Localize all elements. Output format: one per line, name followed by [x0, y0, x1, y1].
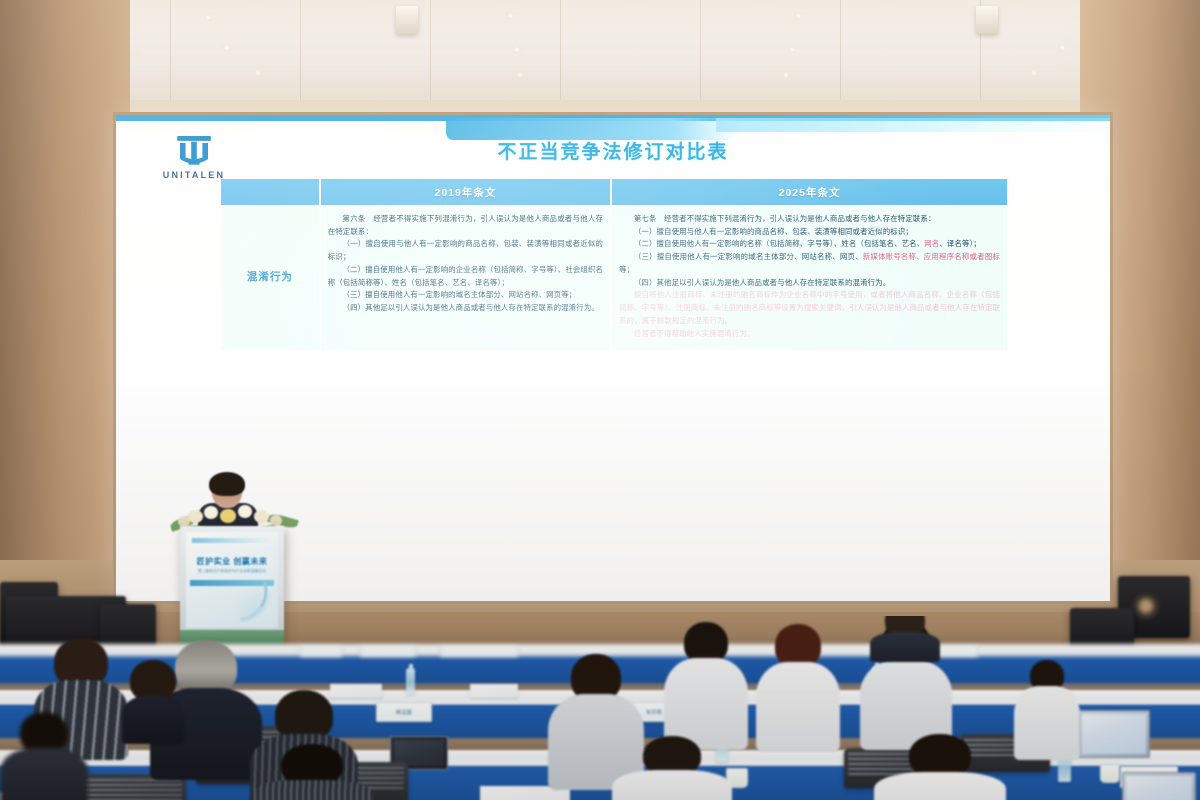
table-header-2025: 2025年条文	[612, 179, 1007, 205]
audience-person	[250, 744, 374, 800]
clause-paragraph: （二）擅自使用他人有一定影响的企业名称（包括简称、字号等）、社会组织名称（包括简…	[328, 264, 603, 289]
conference-hall-photo: UNITALEN 不正当竞争法修订对比表 2019年条文 2025年条文 混淆行…	[0, 0, 1200, 800]
clause-paragraph: （四）其他足以引人误认为是他人商品或者与他人存在特定联系的混淆行为。	[328, 302, 603, 315]
laptop-computer[interactable]	[1078, 710, 1150, 758]
ceiling	[0, 0, 1200, 112]
table-header-row: 2019年条文 2025年条文	[221, 179, 1007, 205]
clause-paragraph: （二）擅自使用他人有一定影响的名称（包括简称、字号等）、姓名（包括笔名、艺名、网…	[619, 238, 1000, 251]
ceiling-spotlight-housing	[976, 6, 998, 34]
ceiling-light-icon	[782, 72, 790, 78]
audience-person	[0, 712, 88, 800]
clause-paragraph: 经营者不得帮助他人实施混淆行为。	[619, 328, 1000, 341]
ceiling-light-icon	[222, 44, 232, 51]
ceiling-light-icon	[788, 46, 797, 53]
audience-person	[664, 622, 748, 746]
audience-person	[1014, 660, 1080, 756]
table-header-blank	[221, 179, 319, 205]
podium-banner-main-text: 匠护实业 创赢未来	[186, 556, 278, 567]
clause-paragraph: （一）擅自使用与他人有一定影响的商品名称、包装、装潢等相同或者近似的标识；	[328, 238, 603, 263]
placard-name-text: 宋月明	[646, 709, 662, 716]
name-placard	[440, 646, 518, 657]
cell-2025-text: 第七条 经营者不得实施下列混淆行为，引人误认为是他人商品或者与他人存在特定联系：…	[612, 207, 1007, 350]
left-wall	[0, 0, 130, 620]
table-row: 混淆行为 第六条 经营者不得实施下列混淆行为，引人误认为是他人商品或者与他人存在…	[221, 207, 1007, 350]
podium-banner-sign: 匠护实业 创赢未来 第二届知识产权保护与产业创新高峰论坛	[186, 532, 278, 628]
slide-title: 不正当竞争法修订对比表	[116, 137, 1110, 164]
podium-banner-sub-text: 第二届知识产权保护与产业创新高峰论坛	[186, 569, 278, 574]
comparison-table: 2019年条文 2025年条文 混淆行为 第六条 经营者不得实施下列混淆行为，引…	[219, 177, 1009, 352]
ceiling-light-icon	[1030, 70, 1038, 76]
audience-person	[756, 624, 840, 748]
speaker-person-hair	[209, 472, 245, 496]
table-header-2019: 2019年条文	[321, 179, 610, 205]
ceiling-light-icon	[794, 12, 803, 19]
ceiling-light-icon	[506, 12, 515, 19]
ceiling-light-icon	[254, 70, 262, 76]
slide-swoosh-decoration-secondary	[716, 118, 1110, 132]
audience-person	[122, 660, 184, 734]
ceiling-light-icon	[204, 14, 213, 21]
clause-paragraph: 第六条 经营者不得实施下列混淆行为，引人误认为是他人商品或者与他人存在特定联系：	[328, 213, 603, 238]
clause-paragraph: 第七条 经营者不得实施下列混淆行为，引人误认为是他人商品或者与他人存在特定联系：	[619, 213, 1000, 226]
clause-paragraph: （四）其他足以引人误认为是他人商品或者与他人存在特定联系的混淆行为。	[619, 277, 1000, 290]
ceiling-spotlight-housing	[396, 6, 418, 34]
audience-person	[870, 616, 940, 654]
audience-seating-area: 韩宝国 宋月明 钟文 卢伟铭	[0, 616, 1200, 800]
name-placard: 韩宝国	[376, 702, 432, 722]
audience-person	[874, 734, 1006, 800]
clause-highlight: 网名	[924, 239, 939, 248]
placard-name-text: 韩宝国	[396, 709, 412, 716]
row-label-confusion: 混淆行为	[221, 207, 319, 350]
laptop-computer[interactable]	[1122, 772, 1196, 800]
audience-person	[612, 736, 732, 800]
clause-highlight: 新媒体账号名称、应用程序名称或者图标	[863, 252, 1000, 261]
clause-paragraph: （三）擅自使用他人有一定影响的域名主体部分、网站名称、网页等；	[328, 289, 603, 302]
clause-paragraph: （一）擅自使用与他人有一定影响的商品名称、包装、装潢等相同或者近似的标识；	[619, 226, 1000, 239]
clause-paragraph: （三）擅自使用他人有一定影响的域名主体部分、网站名称、网页、新媒体账号名称、应用…	[619, 251, 1000, 276]
water-bottle	[406, 668, 415, 694]
ceiling-light-icon	[512, 46, 521, 53]
clause-paragraph: 擅自将他人注册商标、未注册的驰名商标作为企业名称中的字号使用，或者将他人商品名称…	[619, 289, 1000, 327]
cell-2019-text: 第六条 经营者不得实施下列混淆行为，引人误认为是他人商品或者与他人存在特定联系：…	[321, 207, 610, 350]
paper-cup	[1100, 764, 1120, 783]
ceiling-light-icon	[1058, 44, 1067, 51]
name-placard	[300, 646, 342, 657]
name-placard	[360, 646, 416, 657]
document-sheet	[470, 684, 518, 698]
ceiling-light-icon	[516, 72, 524, 78]
